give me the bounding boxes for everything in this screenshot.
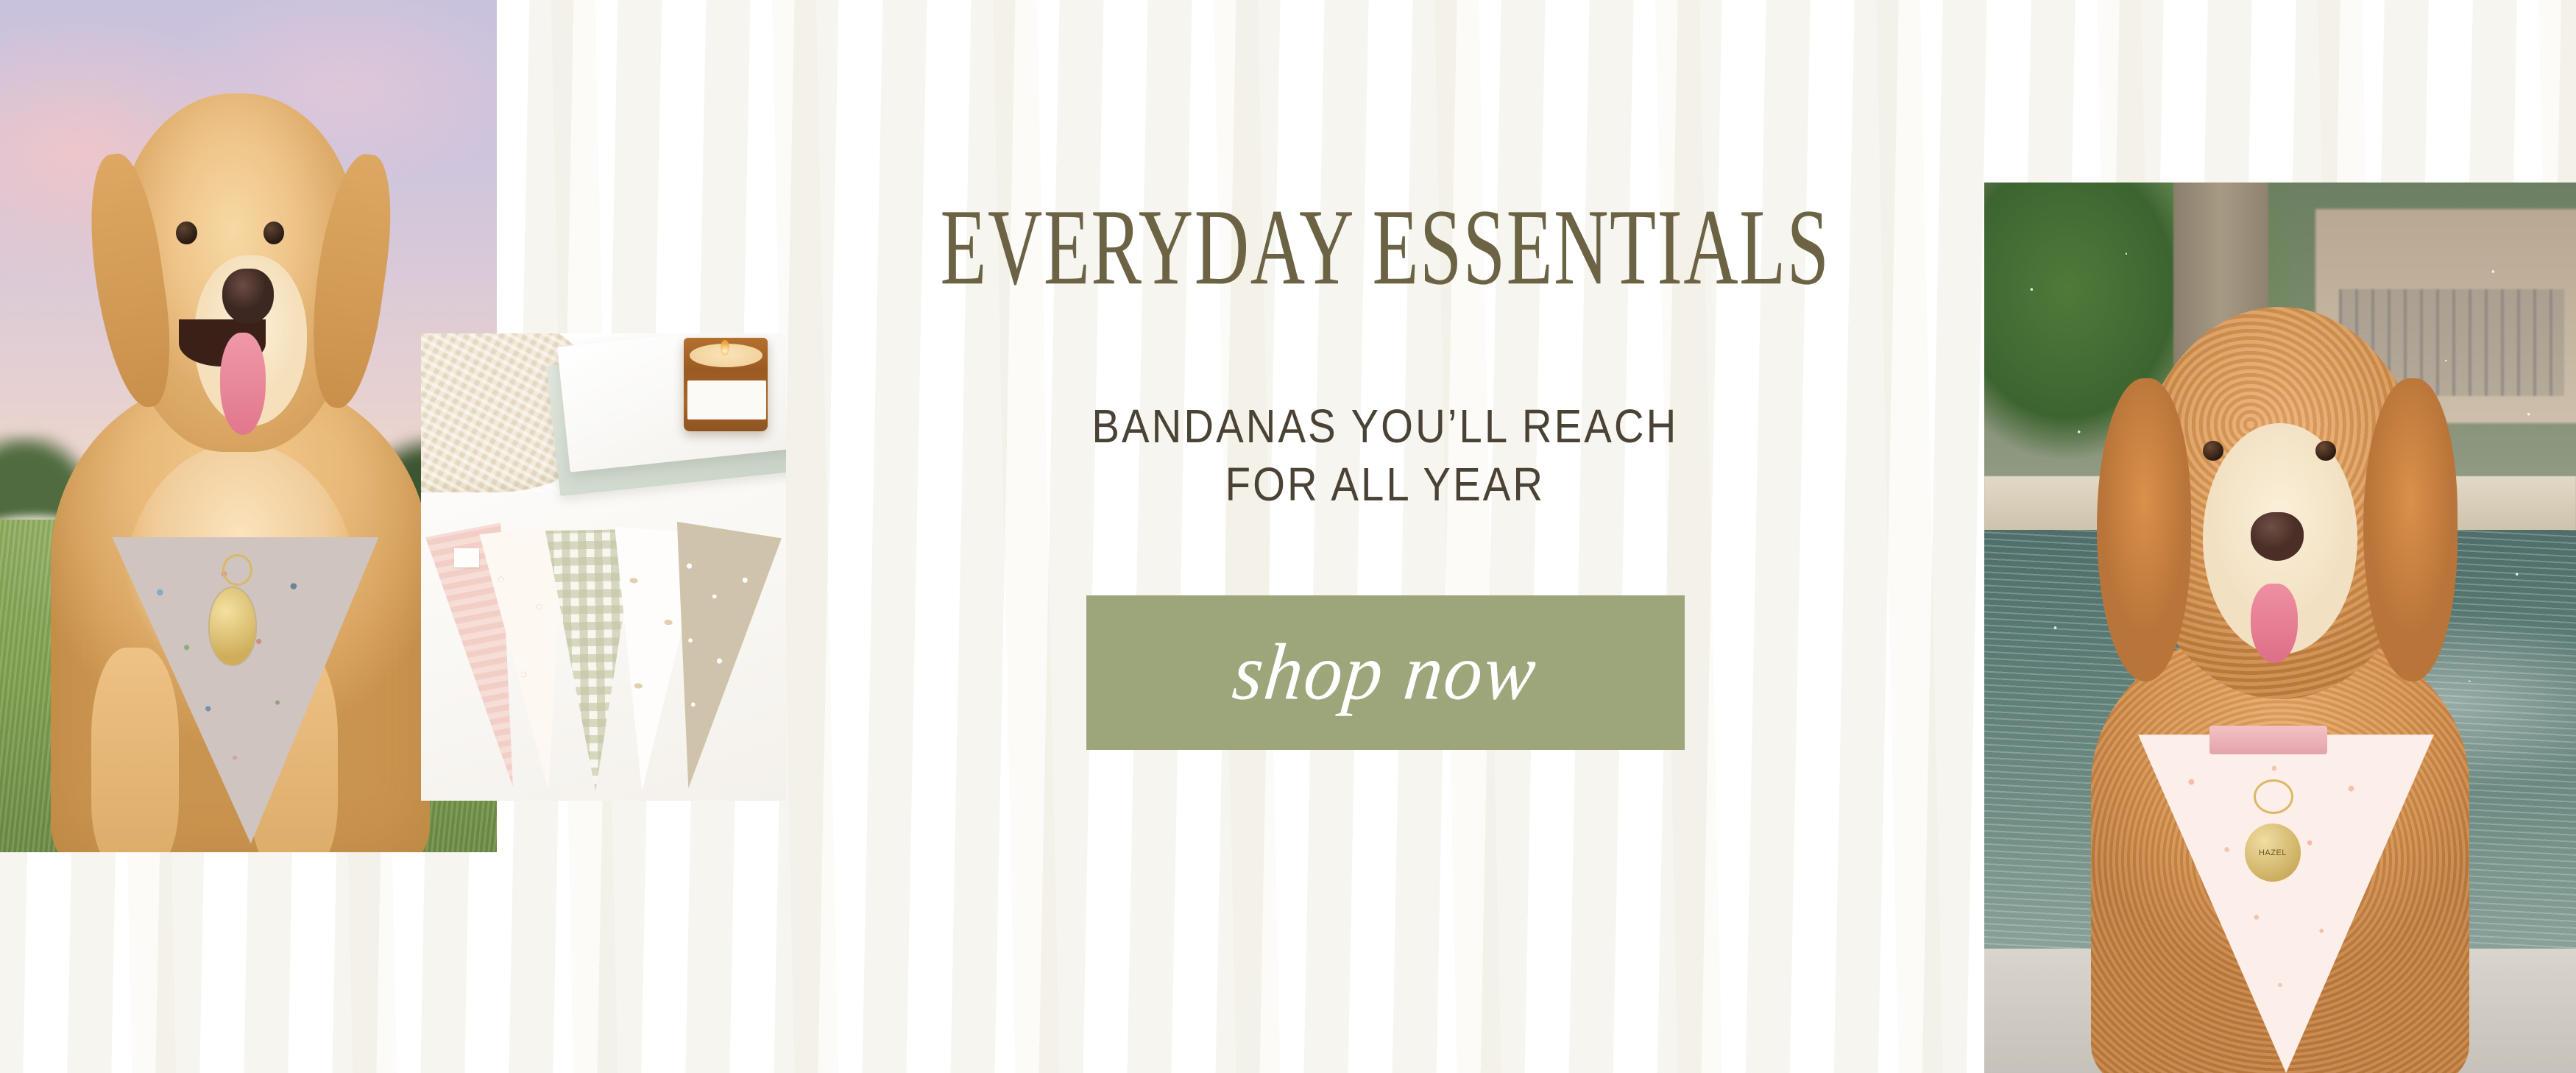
doodle-tongue [2251, 584, 2298, 664]
doodle-collar [2209, 726, 2328, 754]
page-title: EVERYDAY ESSENTIALS [940, 193, 1830, 302]
photo-bandana-flatlay [421, 333, 786, 801]
doodle-ear-left [2097, 378, 2192, 681]
banner-content: EVERYDAY ESSENTIALS BANDANAS YOU’LL REAC… [786, 0, 1984, 1073]
doodle-collar-ring [2254, 779, 2293, 814]
dog-nose [222, 269, 274, 324]
shop-now-button-label: shop now [1229, 632, 1540, 712]
doodle-eye-right [2315, 441, 2335, 461]
shop-now-button[interactable]: shop now [1086, 595, 1685, 750]
dog-eye-left [176, 222, 197, 244]
banner-subheading-line-2: FOR ALL YEAR [1091, 456, 1678, 513]
banner-subheading-line-1: BANDANAS YOU’LL REACH [1091, 397, 1678, 455]
doodle-id-tag-text: HAZEL [2259, 849, 2287, 857]
doodle-id-tag: HAZEL [2245, 824, 2301, 882]
candle-flame-icon [721, 340, 729, 356]
doodle-nose [2251, 512, 2304, 562]
banner-subheading: BANDANAS YOU’LL REACH FOR ALL YEAR [1091, 397, 1678, 512]
brand-woven-label [454, 548, 480, 567]
candle-label [687, 380, 766, 420]
doodle-ear-right [2363, 378, 2458, 681]
promo-banner: HAZEL EVERYDAY ESSENTIALS BANDANAS YOU’L… [0, 0, 2576, 1073]
collar-ring [222, 554, 252, 586]
paw-shaped-id-tag [210, 588, 256, 665]
photo-goldendoodle: HAZEL [1984, 183, 2576, 1073]
doodle-eye-left [2203, 441, 2223, 461]
dog-tongue [220, 333, 266, 435]
